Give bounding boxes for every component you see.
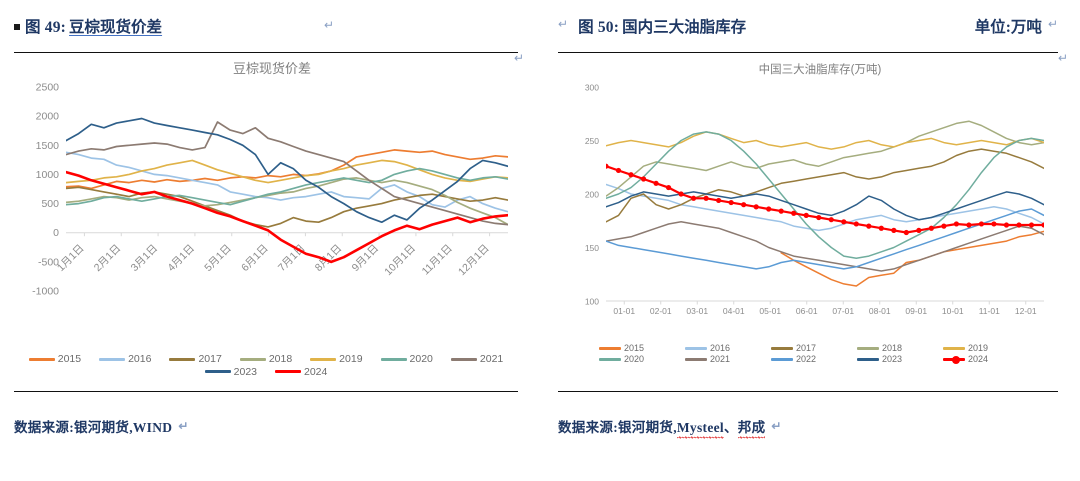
legend-item[interactable]: 2024 (275, 367, 327, 378)
legend-item[interactable]: 2016 (685, 344, 759, 353)
y-axis-tick-label: 1000 (36, 169, 60, 181)
legend-label: 2018 (882, 344, 902, 353)
legend-label: 2015 (58, 354, 81, 365)
bullet-icon (14, 24, 20, 30)
legend-item[interactable]: 2015 (599, 344, 673, 353)
chart-data-marker (1029, 222, 1034, 227)
legend-label: 2023 (882, 355, 902, 364)
legend-item[interactable]: 2018 (857, 344, 931, 353)
legend-label: 2024 (968, 355, 988, 364)
x-axis-tick-label: 11月1日 (420, 242, 455, 277)
legend-swatch-2015 (599, 347, 621, 350)
y-axis-tick-label: 2000 (36, 111, 60, 123)
chart-data-marker (603, 164, 608, 169)
legend-item[interactable]: 2020 (599, 355, 673, 364)
legend-label: 2022 (796, 355, 816, 364)
legend-swatch-2017 (169, 358, 195, 361)
chart-data-marker (1041, 222, 1046, 227)
chart-data-marker (616, 168, 621, 173)
paragraph-mark-icon: ↵ (324, 18, 334, 32)
document-page: 图 49: 豆棕现货价差 ↵ 豆棕现货价差2500200015001000500… (0, 0, 1080, 481)
chart-data-marker (904, 230, 909, 235)
x-axis-tick-label: 01-01 (613, 306, 635, 316)
y-axis-tick-label: 0 (53, 227, 59, 239)
y-axis-tick-label: 300 (585, 83, 599, 93)
legend-item[interactable]: 2017 (771, 344, 845, 353)
legend-label: 2017 (198, 354, 221, 365)
chart-data-marker (929, 226, 934, 231)
chart-data-marker (678, 191, 683, 196)
chart-data-marker (916, 228, 921, 233)
chart-data-marker (704, 196, 709, 201)
chart-49-plot[interactable]: 豆棕现货价差25002000150010005000-500-10001月1日2… (14, 53, 520, 353)
source-label-right: 数据来源:银河期货,Mysteel、邦成↵ (558, 416, 782, 436)
source-text-left: 银河期货,WIND (74, 420, 172, 435)
chart-series-line (66, 160, 508, 182)
chart-title: 中国三大油脂库存(万吨) (759, 62, 882, 76)
legend-label: 2020 (624, 355, 644, 364)
legend-item[interactable]: 2018 (240, 354, 292, 365)
chart-50-plot[interactable]: 中国三大油脂库存(万吨)30025020015010001-0102-0103-… (558, 53, 1058, 343)
chart-data-marker (991, 221, 996, 226)
paragraph-mark-icon: ↵ (178, 419, 188, 433)
chart-data-marker (879, 226, 884, 231)
legend-swatch-2022 (771, 358, 793, 361)
chart-series-line (606, 149, 1044, 222)
chart-data-marker (966, 222, 971, 227)
figure-49-caption: 图 49: 豆棕现货价差 ↵ (14, 0, 518, 52)
legend-label: 2019 (339, 354, 362, 365)
figure-50-unit: 单位:万吨 (975, 15, 1042, 37)
legend-label: 2021 (480, 354, 503, 365)
chart-series-line (606, 121, 1044, 196)
legend-label: 2017 (796, 344, 816, 353)
figure-50-source: 数据来源:银河期货,Mysteel、邦成↵ (558, 392, 1058, 460)
chart-data-marker (1004, 222, 1009, 227)
figure-panel-50: ↵ 图 50: 国内三大油脂库存 单位:万吨 ↵ 中国三大油脂库存(万吨)300… (540, 0, 1080, 481)
y-axis-tick-label: 200 (585, 190, 599, 200)
x-axis-tick-label: 2月1日 (92, 242, 124, 274)
x-axis-tick-label: 09-01 (905, 306, 927, 316)
legend-label: 2024 (304, 367, 327, 378)
x-axis-tick-label: 11-01 (979, 306, 1000, 316)
chart-50-container[interactable]: 中国三大油脂库存(万吨)30025020015010001-0102-0103-… (558, 53, 1058, 391)
chart-49-legend[interactable]: 201520162017201820192020202120232024 (14, 353, 518, 378)
chart-data-marker (804, 213, 809, 218)
y-axis-tick-label: 100 (585, 297, 599, 307)
legend-swatch-2016 (99, 358, 125, 361)
legend-item[interactable]: 2024 (943, 355, 1017, 364)
legend-swatch-2021 (685, 358, 707, 361)
legend-label: 2023 (234, 367, 257, 378)
source-prefix-left: 数据来源: (14, 420, 74, 435)
paragraph-mark-icon: ↵ (1048, 17, 1058, 31)
chart-data-marker (666, 185, 671, 190)
legend-item[interactable]: 2016 (99, 354, 151, 365)
chart-data-marker (729, 200, 734, 205)
chart-data-marker (691, 196, 696, 201)
legend-item[interactable]: 2022 (771, 355, 845, 364)
legend-swatch-2020 (599, 358, 621, 361)
legend-item[interactable]: 2019 (310, 354, 362, 365)
figure-49-number: 图 49: (25, 15, 66, 37)
legend-label: 2021 (710, 355, 730, 364)
x-axis-tick-label: 6月1日 (239, 242, 271, 274)
paragraph-mark-icon: ↵ (514, 51, 524, 381)
x-axis-tick-label: 12月1日 (456, 242, 492, 278)
legend-item[interactable]: 2019 (943, 344, 1017, 353)
chart-data-marker (741, 202, 746, 207)
legend-label: 2018 (269, 354, 292, 365)
legend-item[interactable]: 2021 (451, 354, 503, 365)
x-axis-tick-label: 12-01 (1015, 306, 1037, 316)
x-axis-tick-label: 04-01 (723, 306, 745, 316)
source-text-right: 银河期货, (618, 420, 677, 435)
chart-data-marker (628, 172, 633, 177)
legend-swatch-2023 (857, 358, 879, 361)
legend-label: 2020 (410, 354, 433, 365)
legend-item[interactable]: 2015 (29, 354, 81, 365)
legend-swatch-2016 (685, 347, 707, 350)
legend-label: 2015 (624, 344, 644, 353)
chart-data-marker (716, 198, 721, 203)
paragraph-mark-icon: ↵ (771, 419, 781, 433)
x-axis-tick-label: 03-01 (686, 306, 708, 316)
x-axis-tick-label: 10月1日 (382, 242, 418, 278)
figure-panel-49: 图 49: 豆棕现货价差 ↵ 豆棕现货价差2500200015001000500… (0, 0, 540, 481)
x-axis-tick-label: 10-01 (942, 306, 964, 316)
figure-50-title: 国内三大油脂库存 (622, 15, 746, 37)
source-separator: 、 (724, 420, 738, 435)
chart-data-marker (779, 209, 784, 214)
chart-series-line (606, 192, 1044, 220)
chart-49-container[interactable]: 豆棕现货价差25002000150010005000-500-10001月1日2… (14, 53, 518, 391)
source-misspelled-bangcheng: 邦成 (738, 416, 766, 436)
legend-swatch-2019 (310, 358, 336, 361)
source-label-left: 数据来源:银河期货,WIND↵ (14, 416, 189, 436)
chart-data-marker (829, 217, 834, 222)
legend-swatch-2024 (275, 370, 301, 373)
y-axis-tick-label: 250 (585, 136, 599, 146)
y-axis-tick-label: 1500 (36, 140, 60, 152)
x-axis-tick-label: 02-01 (650, 306, 672, 316)
figure-49-title: 豆棕现货价差 (69, 15, 162, 37)
figure-49-source: 数据来源:银河期货,WIND↵ (14, 392, 518, 460)
paragraph-mark-icon: ↵ (558, 17, 568, 31)
chart-series-line (606, 132, 1044, 149)
chart-50-legend[interactable]: 2015201620172018201920202021202220232024 (558, 343, 1058, 365)
legend-swatch-2024 (943, 358, 965, 361)
chart-data-marker (979, 221, 984, 226)
chart-data-marker (641, 176, 646, 181)
chart-data-marker (866, 224, 871, 229)
chart-data-marker (954, 221, 959, 226)
chart-data-marker (854, 221, 859, 226)
legend-swatch-2015 (29, 358, 55, 361)
legend-label: 2016 (710, 344, 730, 353)
y-axis-tick-label: 150 (585, 243, 599, 253)
legend-swatch-2021 (451, 358, 477, 361)
legend-item[interactable]: 2017 (169, 354, 221, 365)
legend-swatch-2020 (381, 358, 407, 361)
legend-swatch-2018 (857, 347, 879, 350)
legend-item[interactable]: 2020 (381, 354, 433, 365)
x-axis-tick-label: 3月1日 (129, 242, 161, 274)
legend-swatch-2019 (943, 347, 965, 350)
x-axis-tick-label: 05-01 (759, 306, 781, 316)
legend-label: 2016 (128, 354, 151, 365)
figure-50-caption: ↵ 图 50: 国内三大油脂库存 单位:万吨 ↵ (558, 0, 1058, 52)
legend-swatch-2017 (771, 347, 793, 350)
y-axis-tick-label: -1000 (32, 286, 59, 298)
x-axis-tick-label: 9月1日 (350, 242, 382, 274)
chart-data-marker (653, 181, 658, 186)
figure-50-number: 图 50: (578, 15, 619, 37)
chart-data-marker (891, 228, 896, 233)
chart-series-line (66, 178, 508, 225)
chart-data-marker (816, 215, 821, 220)
legend-swatch-2018 (240, 358, 266, 361)
source-misspelled-mysteel: Mysteel (677, 420, 724, 436)
chart-data-marker (841, 219, 846, 224)
x-axis-tick-label: 5月1日 (202, 242, 234, 274)
legend-item[interactable]: 2023 (205, 367, 257, 378)
legend-label: 2019 (968, 344, 988, 353)
chart-data-marker (1016, 222, 1021, 227)
chart-data-marker (766, 206, 771, 211)
chart-data-marker (941, 224, 946, 229)
x-axis-tick-label: 07-01 (832, 306, 854, 316)
x-axis-tick-label: 06-01 (796, 306, 818, 316)
paragraph-mark-icon: ↵ (1058, 51, 1068, 377)
y-axis-tick-label: 2500 (36, 82, 60, 94)
legend-item[interactable]: 2023 (857, 355, 931, 364)
y-axis-tick-label: 500 (41, 198, 59, 210)
legend-swatch-2023 (205, 370, 231, 373)
x-axis-tick-label: 1月1日 (55, 242, 87, 274)
x-axis-tick-label: 08-01 (869, 306, 891, 316)
chart-title: 豆棕现货价差 (233, 61, 311, 76)
chart-data-marker (791, 211, 796, 216)
chart-data-marker (754, 204, 759, 209)
chart-series-line (781, 231, 1044, 286)
legend-item[interactable]: 2021 (685, 355, 759, 364)
x-axis-tick-label: 4月1日 (165, 242, 197, 274)
source-prefix-right: 数据来源: (558, 420, 618, 435)
